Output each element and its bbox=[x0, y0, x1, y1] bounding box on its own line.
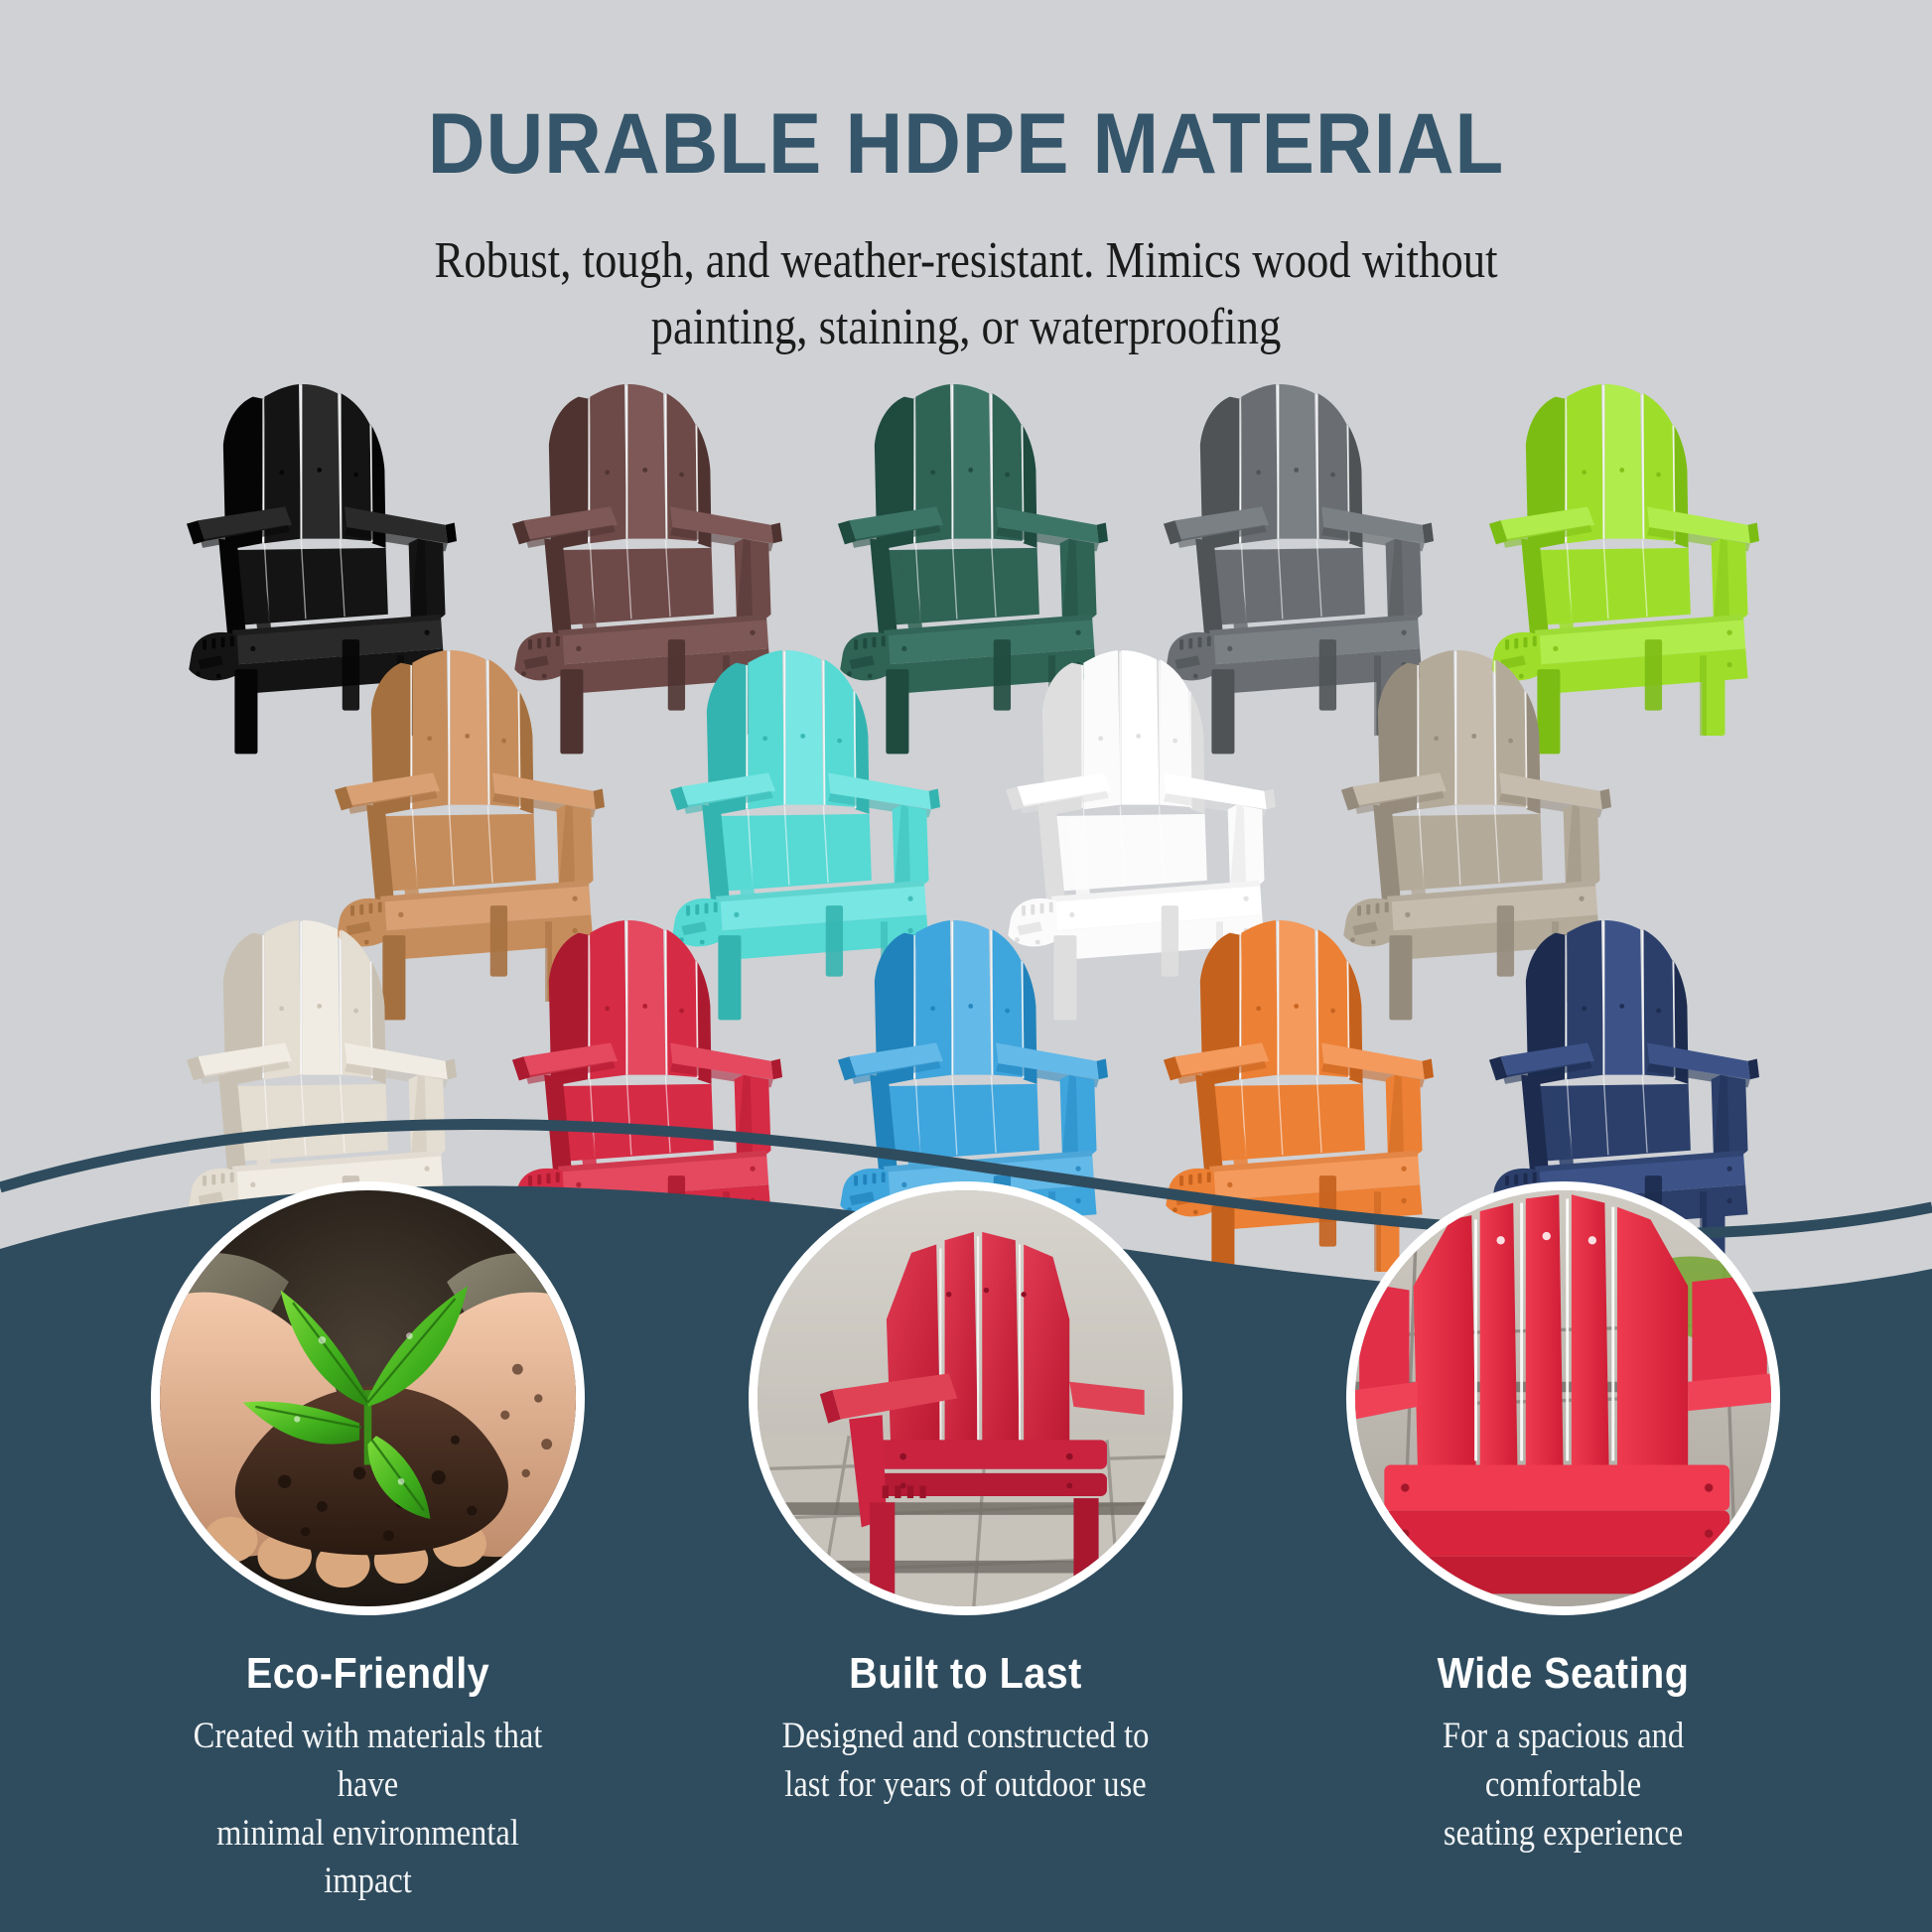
page-subtitle: Robust, tough, and weather-resistant. Mi… bbox=[359, 228, 1572, 360]
desc-line-2: minimal environmental impact bbox=[181, 1810, 556, 1907]
feature-title: Wide Seating bbox=[1368, 1649, 1758, 1699]
feature-description: Designed and constructed to last for yea… bbox=[774, 1713, 1157, 1810]
eco-friendly-photo bbox=[151, 1181, 585, 1615]
desc-line-2: seating experience bbox=[1376, 1810, 1751, 1859]
subtitle-line-1: Robust, tough, and weather-resistant. Mi… bbox=[359, 228, 1572, 295]
desc-line-1: For a spacious and comfortable bbox=[1376, 1713, 1751, 1810]
desc-line-1: Designed and constructed to bbox=[778, 1713, 1154, 1761]
feature-description: Created with materials that have minimal… bbox=[177, 1713, 559, 1906]
wide-seating-photo bbox=[1346, 1181, 1780, 1615]
feature-eco-friendly: Eco-Friendly Created with materials that… bbox=[151, 1181, 585, 1906]
desc-line-2: last for years of outdoor use bbox=[778, 1761, 1154, 1810]
chair-folding-runner bbox=[189, 632, 239, 681]
feature-description: For a spacious and comfortable seating e… bbox=[1372, 1713, 1754, 1858]
hands-holding-seedling-icon bbox=[160, 1190, 576, 1606]
feature-built-to-last: Built to Last Designed and constructed t… bbox=[749, 1181, 1182, 1810]
infographic-canvas: DURABLE HDPE MATERIAL Robust, tough, and… bbox=[0, 0, 1932, 1932]
feature-title: Built to Last bbox=[770, 1649, 1161, 1699]
built-to-last-photo bbox=[749, 1181, 1182, 1615]
feature-title: Eco-Friendly bbox=[173, 1649, 563, 1699]
red-chair-wide-seat-icon bbox=[1355, 1190, 1771, 1606]
feature-wide-seating: Wide Seating For a spacious and comforta… bbox=[1346, 1181, 1780, 1858]
red-chair-on-patio-icon bbox=[758, 1190, 1173, 1606]
subtitle-line-2: painting, staining, or waterproofing bbox=[359, 295, 1572, 361]
page-title: DURABLE HDPE MATERIAL bbox=[68, 95, 1864, 194]
desc-line-1: Created with materials that have bbox=[181, 1713, 556, 1810]
